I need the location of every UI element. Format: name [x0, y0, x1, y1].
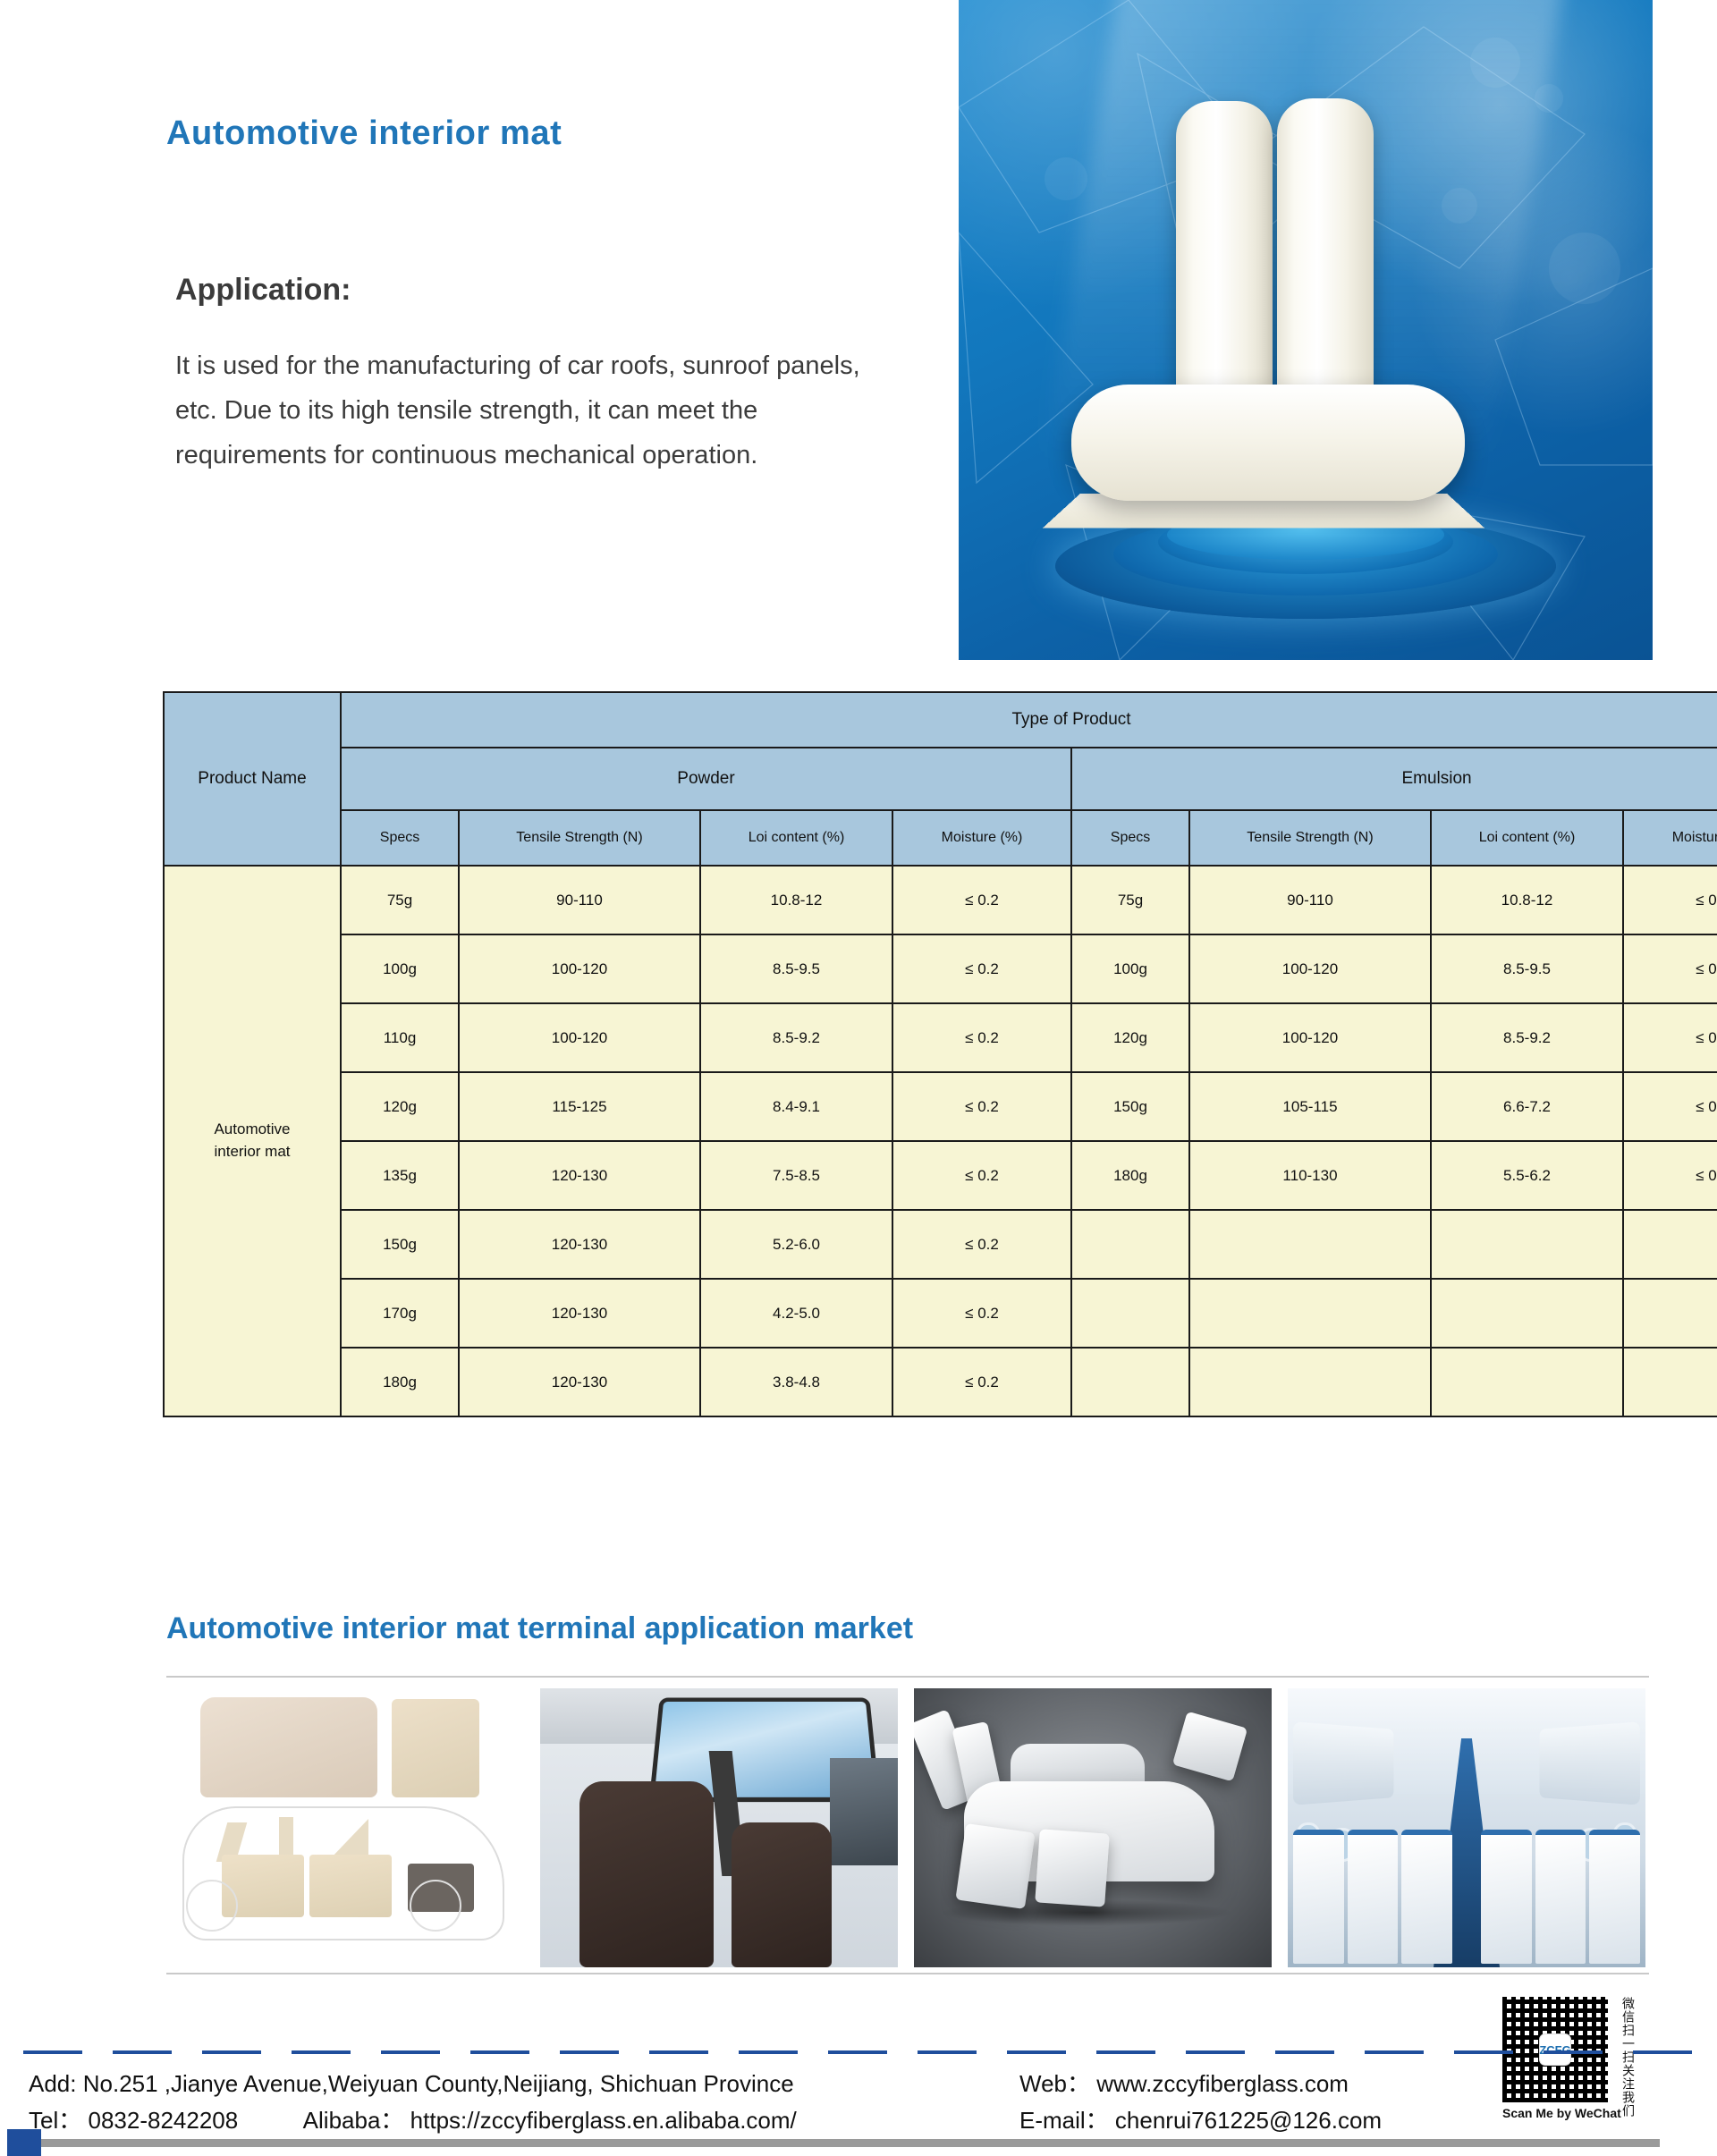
header-group-powder: Powder [341, 748, 1071, 810]
cell-emulsion-moisture: ≤ 0.3 [1623, 934, 1717, 1003]
cell-emulsion-specs: 180g [1071, 1141, 1189, 1210]
cell-powder-tensile: 120-130 [459, 1279, 700, 1348]
application-label: Application: [175, 273, 351, 308]
cell-powder-tensile: 120-130 [459, 1210, 700, 1279]
cell-emulsion-moisture: ≤ 0.3 [1623, 866, 1717, 934]
table-row: Automotiveinterior mat75g90-11010.8-12≤ … [164, 866, 1717, 934]
market-rule-top [166, 1676, 1649, 1678]
cell-powder-loi: 10.8-12 [700, 866, 892, 934]
specification-table: Product Name Type of Product Powder Emul… [163, 691, 1717, 1417]
mat-roll-right [1277, 98, 1374, 401]
cell-powder-specs: 150g [341, 1210, 459, 1279]
cell-emulsion-specs: 100g [1071, 934, 1189, 1003]
application-text: It is used for the manufacturing of car … [175, 344, 909, 478]
cell-powder-specs: 170g [341, 1279, 459, 1348]
cell-powder-moisture: ≤ 0.2 [892, 1003, 1071, 1072]
market-photo-car-body-shell [914, 1688, 1272, 1967]
cell-emulsion-tensile [1189, 1348, 1431, 1416]
cell-emulsion-tensile: 110-130 [1189, 1141, 1431, 1210]
header-emulsion-loi: Loi content (%) [1431, 810, 1623, 866]
table-row: 135g120-1307.5-8.5≤ 0.2180g110-1305.5-6.… [164, 1141, 1717, 1210]
cell-powder-tensile: 120-130 [459, 1348, 700, 1416]
qr-code-image[interactable]: ZCFG [1502, 1997, 1608, 2102]
cell-powder-specs: 180g [341, 1348, 459, 1416]
cell-powder-tensile: 90-110 [459, 866, 700, 934]
datasheet-page: Automotive interior mat Application: It … [0, 0, 1717, 2156]
header-powder-specs: Specs [341, 810, 459, 866]
cell-emulsion-tensile: 100-120 [1189, 1003, 1431, 1072]
cell-emulsion-tensile: 100-120 [1189, 934, 1431, 1003]
footer-accent-square [7, 2129, 41, 2156]
table-header-row-type: Product Name Type of Product [164, 692, 1717, 748]
cell-emulsion-specs [1071, 1210, 1189, 1279]
header-product-name: Product Name [164, 692, 341, 866]
cell-powder-tensile: 100-120 [459, 1003, 700, 1072]
alibaba-link[interactable]: https://zccyfiberglass.en.alibaba.com/ [410, 2107, 797, 2134]
email-link[interactable]: chenrui761225@126.com [1115, 2107, 1382, 2134]
cell-emulsion-moisture: ≤ 0.3 [1623, 1003, 1717, 1072]
market-rule-bottom [166, 1973, 1649, 1974]
alibaba-label: Alibaba： [303, 2102, 404, 2139]
table-row: 170g120-1304.2-5.0≤ 0.2 [164, 1279, 1717, 1348]
table-row: 110g100-1208.5-9.2≤ 0.2120g100-1208.5-9.… [164, 1003, 1717, 1072]
cell-emulsion-moisture: ≤ 0.3 [1623, 1141, 1717, 1210]
footer-contact-left: Add: No.251 ,Jianye Avenue,Weiyuan Count… [29, 2066, 797, 2139]
cell-powder-specs: 100g [341, 934, 459, 1003]
cell-powder-loi: 4.2-5.0 [700, 1279, 892, 1348]
cell-emulsion-loi: 10.8-12 [1431, 866, 1623, 934]
cell-emulsion-loi [1431, 1348, 1623, 1416]
cell-powder-loi: 8.4-9.1 [700, 1072, 892, 1141]
cell-powder-loi: 5.2-6.0 [700, 1210, 892, 1279]
tel-value: 0832-8242208 [88, 2107, 238, 2134]
cell-powder-moisture: ≤ 0.2 [892, 1210, 1071, 1279]
cell-emulsion-loi: 5.5-6.2 [1431, 1141, 1623, 1210]
footer-bottom-bar [7, 2139, 1660, 2147]
cell-emulsion-moisture: ≤ 0.3 [1623, 1072, 1717, 1141]
cell-powder-moisture: ≤ 0.2 [892, 866, 1071, 934]
cell-powder-specs: 135g [341, 1141, 459, 1210]
hero-product-image [959, 0, 1653, 660]
cell-powder-moisture: ≤ 0.2 [892, 934, 1071, 1003]
header-group-emulsion: Emulsion [1071, 748, 1717, 810]
header-emulsion-specs: Specs [1071, 810, 1189, 866]
cell-emulsion-loi [1431, 1279, 1623, 1348]
web-link[interactable]: www.zccyfiberglass.com [1096, 2070, 1349, 2097]
cell-powder-tensile: 100-120 [459, 934, 700, 1003]
footer-email-row: E-mail： chenrui761225@126.com [1019, 2102, 1382, 2139]
table-header-row-groups: Powder Emulsion [164, 748, 1717, 810]
cell-powder-tensile: 115-125 [459, 1072, 700, 1141]
cell-emulsion-tensile [1189, 1279, 1431, 1348]
cell-powder-loi: 7.5-8.5 [700, 1141, 892, 1210]
cell-powder-loi: 8.5-9.2 [700, 1003, 892, 1072]
mat-roll-horizontal [1071, 385, 1465, 501]
cell-powder-loi: 8.5-9.5 [700, 934, 892, 1003]
cell-emulsion-loi: 8.5-9.5 [1431, 934, 1623, 1003]
table-row: 150g120-1305.2-6.0≤ 0.2 [164, 1210, 1717, 1279]
product-name-line1: Automotive [214, 1120, 290, 1137]
header-powder-moisture: Moisture (%) [892, 810, 1071, 866]
header-powder-tensile: Tensile Strength (N) [459, 810, 700, 866]
mat-roll-left [1176, 101, 1273, 398]
table-row: 180g120-1303.8-4.8≤ 0.2 [164, 1348, 1717, 1416]
table-header-row-columns: Specs Tensile Strength (N) Loi content (… [164, 810, 1717, 866]
cell-powder-moisture: ≤ 0.2 [892, 1348, 1071, 1416]
cell-emulsion-moisture [1623, 1279, 1717, 1348]
product-name-line2: interior mat [214, 1143, 290, 1160]
cell-emulsion-tensile [1189, 1210, 1431, 1279]
company-logo-icon: ZCFG [1539, 2033, 1571, 2066]
qr-chinese-caption: 微信扫一扫关注我们 [1615, 1997, 1635, 2118]
cell-powder-specs: 75g [341, 866, 459, 934]
cell-emulsion-specs: 120g [1071, 1003, 1189, 1072]
qr-caption: Scan Me by WeChat [1502, 2106, 1621, 2120]
email-label: E-mail： [1019, 2102, 1109, 2139]
cell-powder-moisture: ≤ 0.2 [892, 1072, 1071, 1141]
market-section-title: Automotive interior mat terminal applica… [166, 1611, 913, 1646]
cell-powder-loi: 3.8-4.8 [700, 1348, 892, 1416]
market-photo-aircraft-cabin [1288, 1688, 1645, 1967]
cell-powder-moisture: ≤ 0.2 [892, 1279, 1071, 1348]
footer-dashed-divider [23, 2050, 1694, 2054]
address-label: Add: [29, 2066, 77, 2102]
web-label: Web： [1019, 2066, 1090, 2102]
footer-contact-right: Web： www.zccyfiberglass.com E-mail： chen… [1019, 2066, 1382, 2139]
cell-emulsion-moisture [1623, 1348, 1717, 1416]
cell-emulsion-tensile: 105-115 [1189, 1072, 1431, 1141]
header-type-of-product: Type of Product [341, 692, 1717, 748]
cell-emulsion-specs [1071, 1348, 1189, 1416]
footer-web-row: Web： www.zccyfiberglass.com [1019, 2066, 1382, 2102]
cell-emulsion-loi: 8.5-9.2 [1431, 1003, 1623, 1072]
wechat-qr-block[interactable]: ZCFG Scan Me by WeChat 微信扫一扫关注我们 [1502, 1997, 1654, 2131]
header-powder-loi: Loi content (%) [700, 810, 892, 866]
header-emulsion-tensile: Tensile Strength (N) [1189, 810, 1431, 866]
cell-powder-moisture: ≤ 0.2 [892, 1141, 1071, 1210]
cell-powder-tensile: 120-130 [459, 1141, 700, 1210]
footer-tel-row: Tel： 0832-8242208 Alibaba： https://zccyf… [29, 2102, 797, 2139]
footer-address-row: Add: No.251 ,Jianye Avenue,Weiyuan Count… [29, 2066, 797, 2102]
cell-emulsion-moisture [1623, 1210, 1717, 1279]
cell-powder-specs: 120g [341, 1072, 459, 1141]
cell-emulsion-specs [1071, 1279, 1189, 1348]
cell-emulsion-loi: 6.6-7.2 [1431, 1072, 1623, 1141]
cell-product-name: Automotiveinterior mat [164, 866, 341, 1416]
address-value: No.251 ,Jianye Avenue,Weiyuan County,Nei… [83, 2070, 794, 2097]
cell-emulsion-loi [1431, 1210, 1623, 1279]
header-emulsion-moisture: Moisture (%) [1623, 810, 1717, 866]
cell-emulsion-tensile: 90-110 [1189, 866, 1431, 934]
table-row: 100g100-1208.5-9.5≤ 0.2100g100-1208.5-9.… [164, 934, 1717, 1003]
cell-emulsion-specs: 75g [1071, 866, 1189, 934]
market-photo-car-sunroof [540, 1688, 898, 1967]
page-title: Automotive interior mat [166, 114, 562, 153]
cell-powder-specs: 110g [341, 1003, 459, 1072]
table-row: 120g115-1258.4-9.1≤ 0.2150g105-1156.6-7.… [164, 1072, 1717, 1141]
market-photo-interior-parts [166, 1688, 524, 1967]
cell-emulsion-specs: 150g [1071, 1072, 1189, 1141]
market-photo-strip [166, 1688, 1649, 1967]
